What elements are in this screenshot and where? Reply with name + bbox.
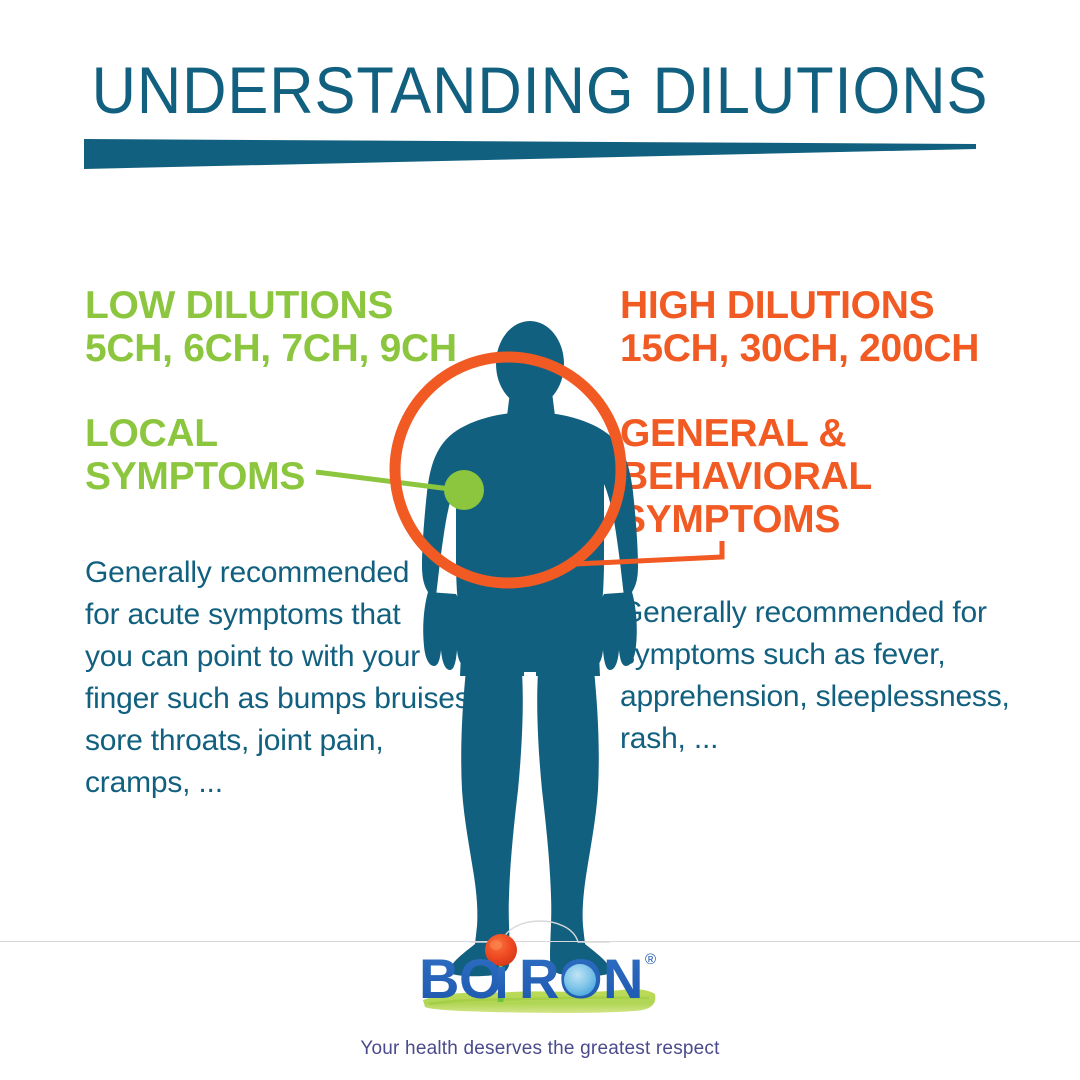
- registered-trademark-symbol: ®: [645, 951, 656, 968]
- infographic-canvas: UNDERSTANDING DILUTIONS LOW DILUTIONS 5C…: [0, 0, 1080, 1080]
- local-symptom-spot-marker: [444, 470, 484, 510]
- brand-wordmark: B O R O N: [419, 947, 643, 1010]
- svg-text:O: O: [459, 947, 503, 1010]
- boiron-logo[interactable]: B O R O N ®: [415, 920, 665, 1020]
- boiron-logo-icon[interactable]: B O R O N ®: [415, 920, 665, 1020]
- svg-text:R: R: [519, 947, 559, 1010]
- svg-text:B: B: [419, 947, 459, 1010]
- o-watercolor-fill: [564, 964, 596, 996]
- svg-text:N: N: [603, 947, 643, 1010]
- brand-tagline: Your health deserves the greatest respec…: [0, 1038, 1080, 1060]
